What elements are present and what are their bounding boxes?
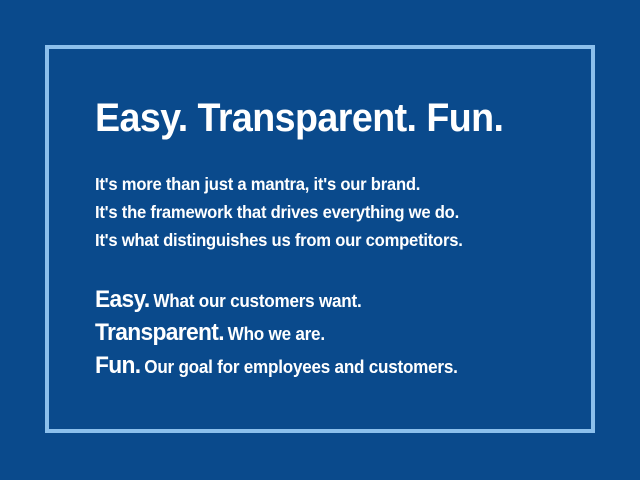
page-title: Easy. Transparent. Fun. [95, 96, 537, 140]
intro-line: It's what distinguishes us from our comp… [95, 226, 542, 254]
pillar-list: Easy.What our customers want. Transparen… [95, 285, 565, 384]
pillar-term: Transparent. [95, 319, 224, 346]
pillar-description: Who we are. [228, 324, 325, 344]
pillar-description: What our customers want. [153, 291, 361, 311]
pillar-term: Easy. [95, 286, 150, 313]
intro-paragraph: It's more than just a mantra, it's our b… [95, 170, 565, 254]
intro-line: It's more than just a mantra, it's our b… [95, 170, 542, 198]
list-item: Fun.Our goal for employees and customers… [95, 351, 542, 384]
list-item: Easy.What our customers want. [95, 285, 542, 318]
pillar-term: Fun. [95, 352, 140, 379]
list-item: Transparent.Who we are. [95, 318, 542, 351]
slide-content: Easy. Transparent. Fun. It's more than j… [95, 96, 565, 384]
brand-mantra-slide: Easy. Transparent. Fun. It's more than j… [0, 0, 640, 480]
pillar-description: Our goal for employees and customers. [144, 357, 457, 377]
intro-line: It's the framework that drives everythin… [95, 198, 542, 226]
